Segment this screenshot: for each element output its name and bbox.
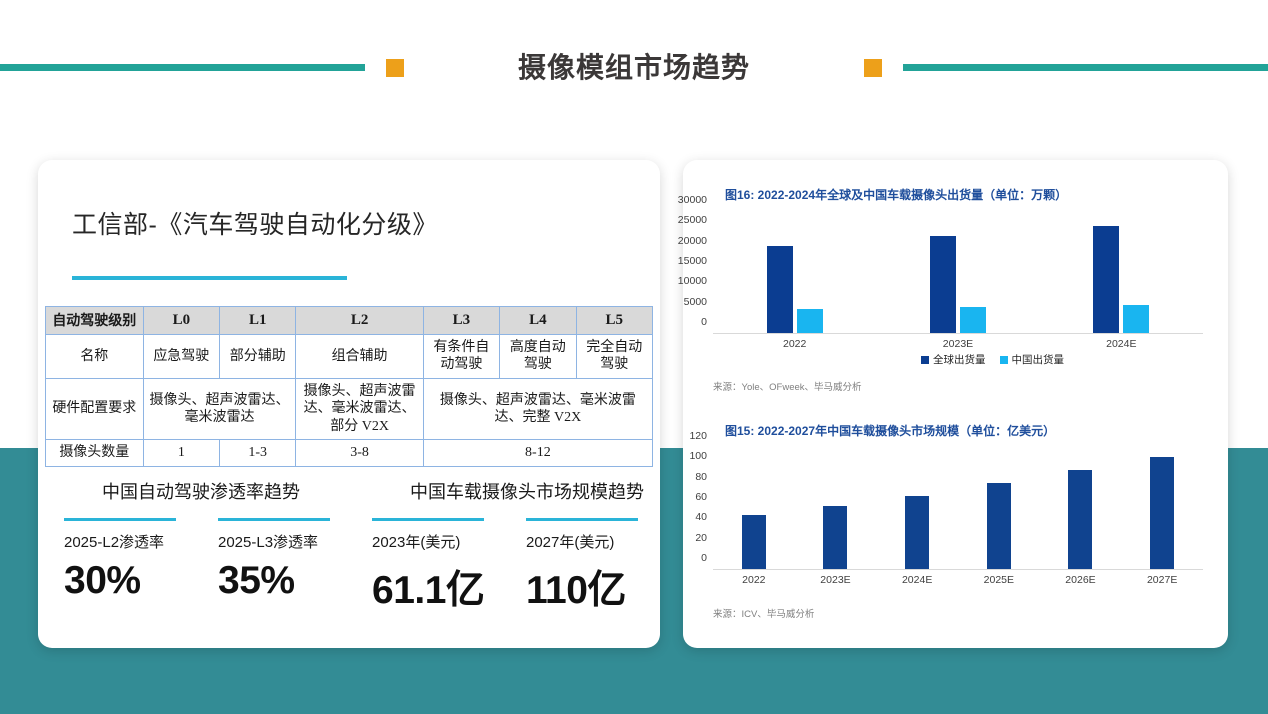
bar-2024E-全球出货量 [1093, 226, 1119, 333]
bar-2023E-市场规模 [823, 506, 847, 569]
x-axis-tick-label: 2023E [876, 338, 1039, 350]
legend-label: 全球出货量 [933, 352, 986, 367]
y-axis-tick-label: 20000 [678, 235, 707, 247]
chart-shipments: 图16: 2022-2024年全球及中国车载摄像头出货量（单位：万颗） 2022… [683, 186, 1228, 401]
table-col-header-level: 自动驾驶级别 [46, 307, 144, 335]
kpi-value: 61.1亿 [372, 559, 512, 615]
kpi-label: 2025-L2渗透率 [64, 531, 204, 552]
autonomy-levels-card: 工信部-《汽车驾驶自动化分级》 自动驾驶级别 L0 L1 L2 L3 L4 L5… [38, 160, 660, 648]
table-cell-hardware-l2: 摄像头、超声波雷达、毫米波雷达、部分 V2X [296, 378, 423, 440]
card-heading: 工信部-《汽车驾驶自动化分级》 [72, 205, 438, 241]
kpi-card-2023-market: 2023年(美元) 61.1亿 [372, 518, 512, 615]
table-row-header-camera-count: 摄像头数量 [46, 440, 144, 467]
bar-2024E-市场规模 [905, 496, 929, 569]
kpi-accent-rule [218, 518, 330, 521]
kpi-card-l3-penetration: 2025-L3渗透率 35% [218, 518, 358, 603]
kpi-card-2027-market: 2027年(美元) 110亿 [526, 518, 666, 615]
bar-group: 2024E [1040, 211, 1203, 333]
chart-source: 来源：ICV、毕马威分析 [713, 606, 814, 620]
bar-2026E-市场规模 [1068, 470, 1092, 569]
bar-2022-中国出货量 [797, 309, 823, 333]
y-axis-tick-label: 25000 [678, 214, 707, 226]
x-axis-tick-label: 2025E [958, 574, 1040, 586]
y-axis-tick-label: 0 [701, 552, 707, 564]
table-cell-hardware-l0l1: 摄像头、超声波雷达、毫米波雷达 [143, 378, 296, 440]
x-axis-tick-label: 2027E [1121, 574, 1203, 586]
autonomy-levels-table: 自动驾驶级别 L0 L1 L2 L3 L4 L5 名称 应急驾驶 部分辅助 组合… [45, 306, 653, 467]
table-col-header-l1: L1 [220, 307, 296, 335]
header-rule-right [903, 64, 1268, 71]
bar-2024E-中国出货量 [1123, 305, 1149, 333]
bar-series-container: 20222023E2024E [713, 211, 1203, 333]
table-cell-name-l4: 高度自动驾驶 [500, 334, 576, 378]
kpi-label: 2023年(美元) [372, 531, 512, 552]
y-axis-tick-label: 0 [701, 316, 707, 328]
kpi-accent-rule [372, 518, 484, 521]
bar-group: 2026E [1040, 447, 1122, 569]
x-axis-tick-label: 2024E [1040, 338, 1203, 350]
slide-header: 摄像模组市场趋势 [0, 44, 1268, 92]
bar-series-container: 20222023E2024E2025E2026E2027E [713, 447, 1203, 569]
chart-plot-area: 20222023E2024E 3000025000200001500010000… [713, 212, 1203, 334]
kpi-accent-rule [526, 518, 638, 521]
table-cell-hardware-l3l5: 摄像头、超声波雷达、毫米波雷达、完整 V2X [423, 378, 652, 440]
y-axis-tick-label: 30000 [678, 194, 707, 206]
y-axis-tick-label: 20 [695, 532, 707, 544]
y-axis-tick-label: 15000 [678, 255, 707, 267]
chart-legend: 全球出货量 中国出货量 [921, 352, 1064, 367]
legend-swatch-icon [1000, 356, 1008, 364]
chart-plot-area: 20222023E2024E2025E2026E2027E 1201008060… [713, 448, 1203, 570]
axis-baseline [713, 569, 1203, 570]
table-row: 硬件配置要求 摄像头、超声波雷达、毫米波雷达 摄像头、超声波雷达、毫米波雷达、部… [46, 378, 653, 440]
y-axis-tick-label: 5000 [684, 296, 707, 308]
table-row-header-name: 名称 [46, 334, 144, 378]
kpi-value: 110亿 [526, 559, 666, 615]
bar-group: 2024E [876, 447, 958, 569]
bar-2023E-中国出货量 [960, 307, 986, 333]
bar-2023E-全球出货量 [930, 236, 956, 333]
kpi-group-title-market-size: 中国车载摄像头市场规模趋势 [410, 478, 644, 504]
table-col-header-l4: L4 [500, 307, 576, 335]
kpi-label: 2027年(美元) [526, 531, 666, 552]
y-axis-tick-label: 10000 [678, 275, 707, 287]
table-col-header-l2: L2 [296, 307, 423, 335]
table-cell-name-l0: 应急驾驶 [143, 334, 219, 378]
table-row: 摄像头数量 1 1-3 3-8 8-12 [46, 440, 653, 467]
bar-2027E-市场规模 [1150, 457, 1174, 569]
table-col-header-l3: L3 [423, 307, 499, 335]
legend-item-china: 中国出货量 [1000, 352, 1065, 367]
x-axis-tick-label: 2022 [713, 338, 876, 350]
table-cell-count-l0: 1 [143, 440, 219, 467]
charts-card: 图16: 2022-2024年全球及中国车载摄像头出货量（单位：万颗） 2022… [683, 160, 1228, 648]
table-cell-count-l3l5: 8-12 [423, 440, 652, 467]
bar-group: 2027E [1121, 447, 1203, 569]
table-cell-name-l1: 部分辅助 [220, 334, 296, 378]
kpi-label: 2025-L3渗透率 [218, 531, 358, 552]
chart-title: 图15: 2022-2027年中国车载摄像头市场规模（单位：亿美元） [725, 422, 1055, 439]
bar-group: 2023E [876, 211, 1039, 333]
bar-group: 2022 [713, 211, 876, 333]
kpi-card-l2-penetration: 2025-L2渗透率 30% [64, 518, 204, 603]
legend-swatch-icon [921, 356, 929, 364]
kpi-value: 35% [218, 559, 358, 603]
y-axis-tick-label: 40 [695, 511, 707, 523]
table-cell-name-l2: 组合辅助 [296, 334, 423, 378]
table-cell-count-l2: 3-8 [296, 440, 423, 467]
table-cell-name-l5: 完全自动驾驶 [576, 334, 652, 378]
chart-source: 来源：Yole、OFweek、毕马威分析 [713, 379, 862, 393]
header-square-right [864, 59, 882, 77]
table-header-row: 自动驾驶级别 L0 L1 L2 L3 L4 L5 [46, 307, 653, 335]
table-col-header-l5: L5 [576, 307, 652, 335]
kpi-accent-rule [64, 518, 176, 521]
kpi-value: 30% [64, 559, 204, 603]
bar-2022-全球出货量 [767, 246, 793, 333]
table-row-header-hardware: 硬件配置要求 [46, 378, 144, 440]
y-axis-tick-label: 100 [689, 450, 707, 462]
chart-market-size: 图15: 2022-2027年中国车载摄像头市场规模（单位：亿美元） 20222… [683, 422, 1228, 632]
table-cell-count-l1: 1-3 [220, 440, 296, 467]
bar-2022-市场规模 [742, 515, 766, 569]
table-cell-name-l3: 有条件自动驾驶 [423, 334, 499, 378]
y-axis-tick-label: 80 [695, 471, 707, 483]
x-axis-tick-label: 2022 [713, 574, 795, 586]
table-col-header-l0: L0 [143, 307, 219, 335]
bar-group: 2022 [713, 447, 795, 569]
legend-item-global: 全球出货量 [921, 352, 986, 367]
bar-group: 2025E [958, 447, 1040, 569]
x-axis-tick-label: 2026E [1040, 574, 1122, 586]
bar-2025E-市场规模 [987, 483, 1011, 569]
y-axis-tick-label: 120 [689, 430, 707, 442]
bar-group: 2023E [795, 447, 877, 569]
legend-label: 中国出货量 [1012, 352, 1065, 367]
x-axis-tick-label: 2024E [876, 574, 958, 586]
y-axis-tick-label: 60 [695, 491, 707, 503]
axis-baseline [713, 333, 1203, 334]
heading-accent-rule [72, 276, 347, 280]
x-axis-tick-label: 2023E [795, 574, 877, 586]
table-row: 名称 应急驾驶 部分辅助 组合辅助 有条件自动驾驶 高度自动驾驶 完全自动驾驶 [46, 334, 653, 378]
kpi-group-title-penetration: 中国自动驾驶渗透率趋势 [102, 478, 300, 504]
chart-title: 图16: 2022-2024年全球及中国车载摄像头出货量（单位：万颗） [725, 186, 1067, 203]
